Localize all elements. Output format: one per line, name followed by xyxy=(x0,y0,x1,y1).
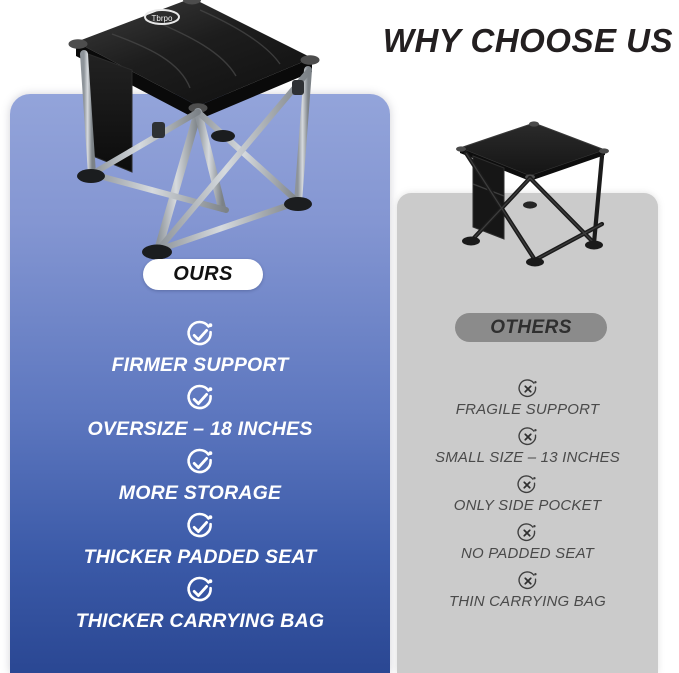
check-circle-icon xyxy=(183,382,217,416)
others-feature-item: THIN CARRYING BAG xyxy=(449,570,606,610)
ours-feature-item: MORE STORAGE xyxy=(119,446,281,505)
x-circle-icon xyxy=(517,570,539,592)
ours-feature-label: FIRMER SUPPORT xyxy=(112,354,289,377)
ours-feature-label: THICKER CARRYING BAG xyxy=(76,610,324,633)
ours-feature-item: THICKER PADDED SEAT xyxy=(84,510,317,569)
x-circle-icon xyxy=(516,522,538,544)
others-feature-label: SMALL SIZE – 13 INCHES xyxy=(435,449,620,466)
others-feature-label: THIN CARRYING BAG xyxy=(449,593,606,610)
ours-feature-label: THICKER PADDED SEAT xyxy=(84,546,317,569)
check-circle-icon xyxy=(183,510,217,544)
x-circle-icon xyxy=(516,474,538,496)
others-feature-item: ONLY SIDE POCKET xyxy=(454,474,601,514)
comparison-infographic: WHY CHOOSE US xyxy=(0,0,679,673)
svg-text:Tbrpo: Tbrpo xyxy=(152,14,173,23)
others-feature-item: FRAGILE SUPPORT xyxy=(456,378,600,418)
ours-feature-item: FIRMER SUPPORT xyxy=(112,318,289,377)
others-feature-item: SMALL SIZE – 13 INCHES xyxy=(435,426,620,466)
check-circle-icon xyxy=(183,318,217,352)
x-circle-icon xyxy=(517,426,539,448)
ours-feature-label: OVERSIZE – 18 INCHES xyxy=(87,418,312,441)
others-feature-list: FRAGILE SUPPORT SMALL SIZE – 13 INCHES O… xyxy=(397,378,658,618)
others-feature-label: NO PADDED SEAT xyxy=(461,545,594,562)
check-circle-icon xyxy=(183,574,217,608)
ours-feature-item: OVERSIZE – 18 INCHES xyxy=(87,382,312,441)
ours-product-image: Tbrpo xyxy=(40,0,340,268)
others-badge: OTHERS xyxy=(455,313,607,342)
others-feature-label: ONLY SIDE POCKET xyxy=(454,497,601,514)
ours-feature-item: THICKER CARRYING BAG xyxy=(76,574,324,633)
page-title: WHY CHOOSE US xyxy=(383,22,673,60)
others-product-image xyxy=(442,112,620,272)
others-feature-label: FRAGILE SUPPORT xyxy=(456,401,600,418)
x-circle-icon xyxy=(517,378,539,400)
others-feature-item: NO PADDED SEAT xyxy=(461,522,594,562)
check-circle-icon xyxy=(183,446,217,480)
ours-feature-label: MORE STORAGE xyxy=(119,482,281,505)
ours-badge: OURS xyxy=(143,259,263,290)
ours-feature-list: FIRMER SUPPORT OVERSIZE – 18 INCHES MORE… xyxy=(10,318,390,638)
